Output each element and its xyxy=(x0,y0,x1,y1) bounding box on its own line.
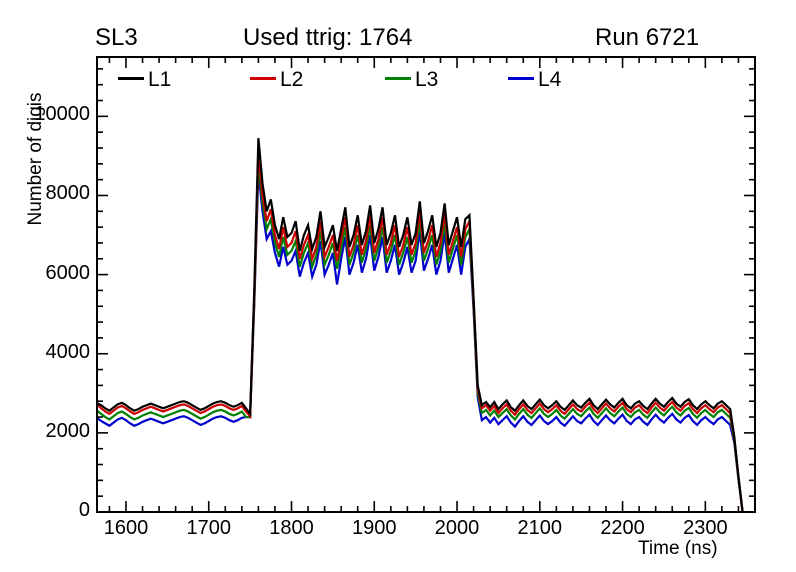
plot-frame xyxy=(97,57,755,512)
axis-ticks xyxy=(97,57,755,512)
series-line-l1 xyxy=(97,138,743,512)
data-series-group xyxy=(97,138,743,512)
plot-canvas: SL3 Used ttrig: 1764 Run 6721 Number of … xyxy=(0,0,796,572)
plot-svg xyxy=(0,0,796,572)
